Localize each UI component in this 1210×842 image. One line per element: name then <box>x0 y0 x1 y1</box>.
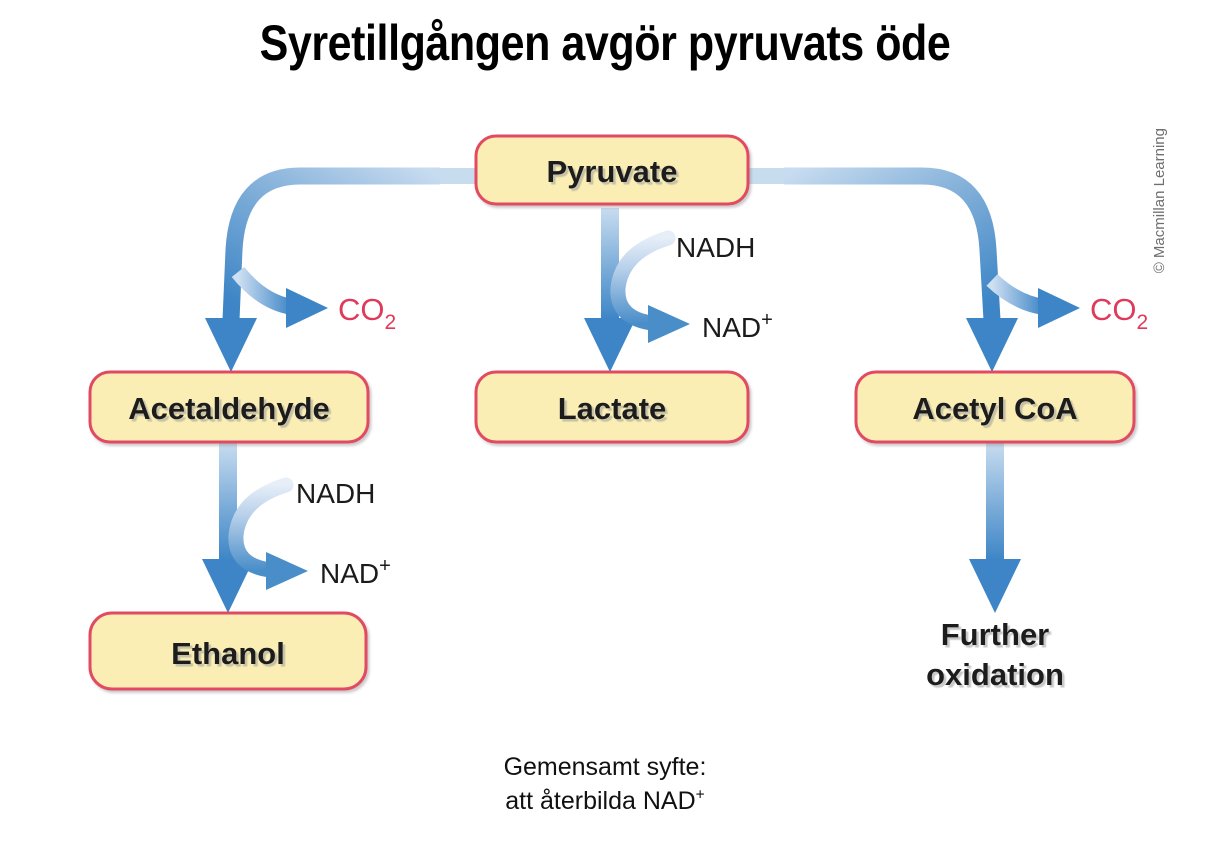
label-co2-right: CO2 <box>1090 292 1148 334</box>
node-further-oxidation: Further oxidation <box>926 617 1064 692</box>
node-lactate-label: Lactate <box>558 391 667 426</box>
svg-text:CO2: CO2 <box>1090 292 1148 334</box>
node-further-oxidation-line2: oxidation <box>926 657 1064 692</box>
label-nadplus-ethanol-sup: + <box>379 555 391 577</box>
node-further-oxidation-line1: Further <box>941 617 1050 652</box>
label-nadplus-lactate-sup: + <box>761 309 773 331</box>
node-pyruvate-label: Pyruvate <box>547 154 678 189</box>
label-co2-right-sub: 2 <box>1137 311 1149 334</box>
label-nadh-lactate: NADH <box>676 232 755 263</box>
node-ethanol[interactable]: Ethanol <box>90 613 366 689</box>
edge-pyruvate-to-acetyl-coa <box>784 176 1018 372</box>
label-nadplus-lactate: NAD+ <box>702 309 773 343</box>
label-co2-left-text: CO <box>338 292 385 327</box>
edge-acetaldehyde-to-ethanol <box>202 443 254 613</box>
node-acetyl-coa[interactable]: Acetyl CoA <box>856 372 1134 442</box>
node-acetaldehyde-label: Acetaldehyde <box>128 391 330 426</box>
label-nadh-ethanol: NADH <box>296 478 375 509</box>
label-nadplus-ethanol-text: NAD <box>320 558 379 589</box>
edge-pyruvate-to-lactate <box>584 208 636 372</box>
node-pyruvate[interactable]: Pyruvate <box>476 136 748 204</box>
label-nadplus-lactate-text: NAD <box>702 312 761 343</box>
svg-text:NAD+: NAD+ <box>702 309 773 343</box>
label-co2-left: CO2 <box>338 292 396 334</box>
node-ethanol-label: Ethanol <box>171 636 285 671</box>
caption: Gemensamt syfte: att återbilda NAD+ <box>0 750 1210 818</box>
label-co2-left-sub: 2 <box>385 311 397 334</box>
node-lactate[interactable]: Lactate <box>476 372 748 442</box>
caption-line-1: Gemensamt syfte: <box>0 750 1210 784</box>
node-acetaldehyde[interactable]: Acetaldehyde <box>90 372 368 442</box>
caption-line-2-superscript: + <box>696 787 705 804</box>
edge-acetyl-coa-to-further-oxidation <box>969 443 1021 613</box>
label-co2-right-text: CO <box>1090 292 1137 327</box>
svg-text:CO2: CO2 <box>338 292 396 334</box>
pathway-svg: Pyruvate Acetaldehyde Lactate Acetyl CoA… <box>0 0 1210 842</box>
caption-line-2-text: att återbilda NAD <box>505 787 695 815</box>
caption-line-2: att återbilda NAD+ <box>0 784 1210 818</box>
label-nadplus-ethanol: NAD+ <box>320 555 391 589</box>
node-acetyl-coa-label: Acetyl CoA <box>912 391 1077 426</box>
diagram-canvas: Syretillgången avgör pyruvats öde © Macm… <box>0 0 1210 842</box>
svg-text:NAD+: NAD+ <box>320 555 391 589</box>
